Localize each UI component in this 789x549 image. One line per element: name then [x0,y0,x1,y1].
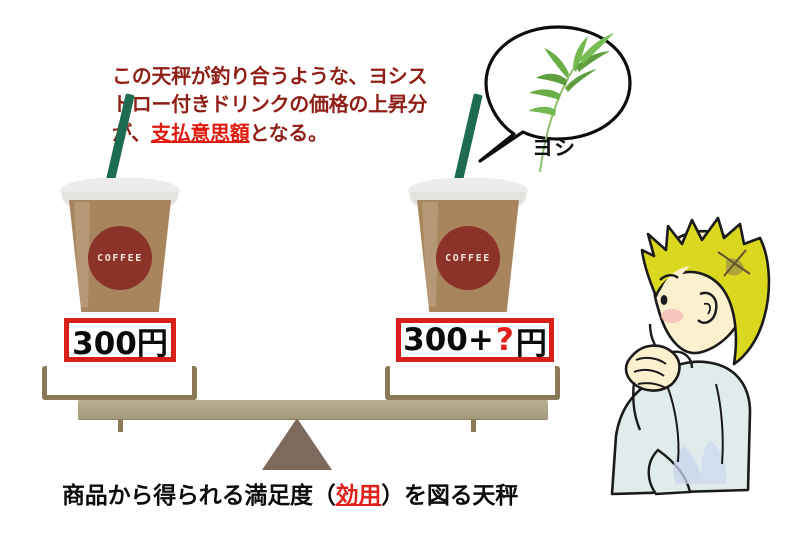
price-left-value: 300円 [72,318,168,363]
balance-beam [78,400,548,419]
price-right-prefix: 300+ [403,322,494,358]
cup-logo-left: COFFEE [88,226,152,290]
caption-post: ）を図る天秤 [381,483,518,509]
caption-pre: 商品から得られる満足度（ [62,483,336,509]
headline-line-3-post: となる。 [250,121,328,145]
speech-bubble: ヨシ [470,22,645,182]
cup-logo-text-left: COFFEE [97,253,143,264]
cheek-blush [661,309,683,323]
price-right-suffix: 円 [516,318,547,363]
balance-pan-right [385,366,560,432]
headline-line-2: トロー付きドリンクの価格の上昇分 [112,90,472,118]
cup-logo-text-right: COFFEE [445,253,491,264]
character-illustration [598,212,789,549]
cup-logo-right: COFFEE [436,226,500,290]
speech-bubble-label: ヨシ [532,132,576,162]
headline-highlight-term: 支払意思額 [151,121,250,145]
illustration-canvas: この天秤が釣り合うような、ヨシス トロー付きドリンクの価格の上昇分 が、支払意思… [0,0,789,549]
coffee-cup-right: COFFEE [408,170,528,320]
eye [661,295,668,305]
headline-line-3: が、支払意思額となる。 [112,119,472,147]
price-tag-left: 300円 [64,318,176,362]
balance-fulcrum [262,418,332,470]
headline-line-1: この天秤が釣り合うような、ヨシス [112,62,472,90]
thinking-character [598,212,789,549]
balance-pan-left [42,366,197,432]
headline-text: この天秤が釣り合うような、ヨシス トロー付きドリンクの価格の上昇分 が、支払意思… [112,62,472,147]
caption-text: 商品から得られる満足度（効用）を図る天秤 [62,476,542,510]
coffee-cup-left: COFFEE [60,170,180,320]
price-right-unknown: ? [494,322,516,358]
price-tag-right: 300+?円 [396,318,554,362]
caption-highlight-term: 効用 [336,483,382,509]
